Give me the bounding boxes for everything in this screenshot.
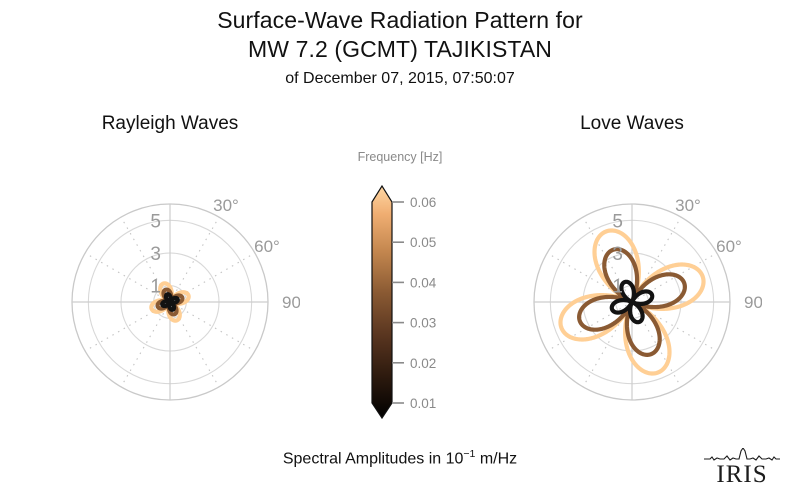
svg-text:1: 1 [150, 277, 161, 298]
colorbar-svg: 0.060.050.040.030.020.01 [330, 150, 470, 420]
colorbar-gradient-bar [372, 186, 392, 418]
svg-text:0.06: 0.06 [410, 195, 436, 210]
svg-text:30°: 30° [213, 196, 239, 215]
rayleigh-polar-plot: 13530°60°90° [40, 172, 300, 432]
love-panel-title: Love Waves [502, 113, 762, 135]
title-line-1: Surface-Wave Radiation Pattern for [0, 6, 800, 35]
svg-text:30°: 30° [675, 196, 701, 215]
svg-text:0.02: 0.02 [410, 356, 436, 371]
iris-wordmark: IRIS [700, 462, 784, 488]
svg-text:5: 5 [612, 211, 623, 232]
love-polar-svg: 13530°60°90° [502, 172, 762, 432]
rayleigh-polar-svg: 13530°60°90° [40, 172, 300, 432]
svg-text:0.03: 0.03 [410, 316, 436, 331]
love-polar-plot: 13530°60°90° [502, 172, 762, 432]
svg-text:5: 5 [150, 211, 161, 232]
svg-text:0.05: 0.05 [410, 235, 436, 250]
colorbar: Frequency [Hz] 0.060.050.040.030.020.01 [330, 150, 470, 420]
colorbar-ticks: 0.060.050.040.030.020.01 [392, 195, 437, 411]
iris-logo: IRIS [700, 448, 784, 490]
svg-text:60°: 60° [716, 237, 742, 256]
svg-text:90°: 90° [282, 293, 300, 312]
caption-suffix: m/Hz [475, 450, 517, 467]
caption-exponent: −1 [463, 448, 475, 460]
rayleigh-panel-title: Rayleigh Waves [40, 113, 300, 135]
event-datetime-subtitle: of December 07, 2015, 07:50:07 [0, 68, 800, 90]
footer-caption: Spectral Amplitudes in 10−1 m/Hz [0, 448, 800, 468]
svg-text:60°: 60° [254, 237, 280, 256]
svg-text:0.01: 0.01 [410, 396, 436, 411]
svg-text:1: 1 [612, 277, 623, 298]
svg-text:3: 3 [150, 244, 161, 265]
page-title: Surface-Wave Radiation Pattern for MW 7.… [0, 6, 800, 90]
caption-prefix: Spectral Amplitudes in 10 [283, 450, 464, 467]
svg-text:0.04: 0.04 [410, 275, 437, 290]
title-line-2: MW 7.2 (GCMT) TAJIKISTAN [0, 35, 800, 64]
svg-text:3: 3 [612, 244, 623, 265]
svg-text:90°: 90° [744, 293, 762, 312]
